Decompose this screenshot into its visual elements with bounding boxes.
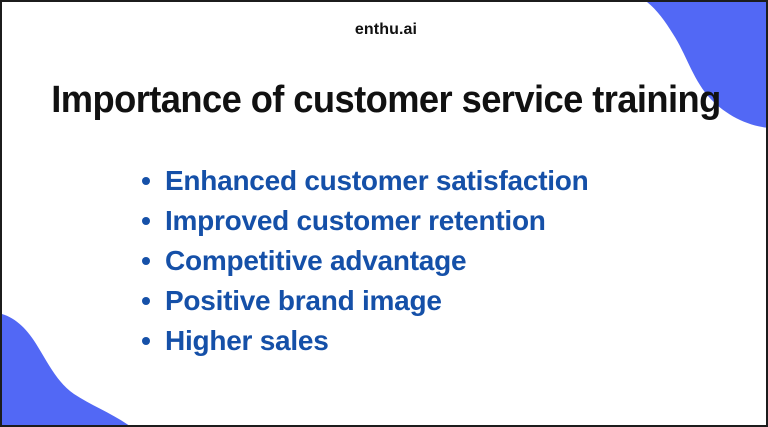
benefits-bullet-list: Enhanced customer satisfaction Improved …	[142, 163, 589, 363]
list-item-label: Higher sales	[165, 323, 329, 359]
list-item-label: Positive brand image	[165, 283, 442, 319]
page-title: Importance of customer service training	[19, 78, 752, 122]
list-item: Enhanced customer satisfaction	[142, 163, 589, 203]
bullet-dot-icon	[142, 177, 150, 185]
list-item-label: Competitive advantage	[165, 243, 466, 279]
brand-wordmark: enthu.ai	[2, 21, 768, 39]
list-item-label: Improved customer retention	[165, 203, 546, 239]
bottom-left-blob-shape	[2, 314, 134, 427]
bullet-dot-icon	[142, 257, 150, 265]
bullet-dot-icon	[142, 337, 150, 345]
list-item: Positive brand image	[142, 283, 589, 323]
bullet-dot-icon	[142, 217, 150, 225]
list-item: Higher sales	[142, 323, 589, 363]
list-item-label: Enhanced customer satisfaction	[165, 163, 589, 199]
slide-canvas: enthu.ai Importance of customer service …	[0, 0, 768, 427]
bullet-dot-icon	[142, 297, 150, 305]
list-item: Competitive advantage	[142, 243, 589, 283]
list-item: Improved customer retention	[142, 203, 589, 243]
